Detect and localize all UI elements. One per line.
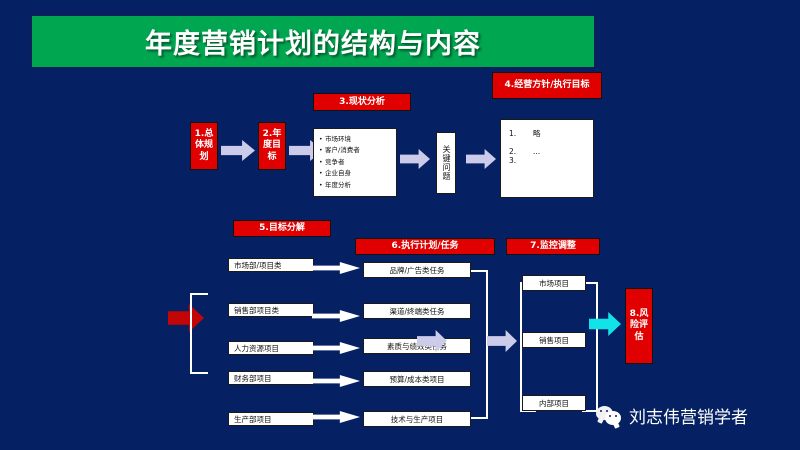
section-header-5: 5.目标分解 (233, 220, 331, 237)
step-2-annual-goal: 2.年度目标 (258, 122, 286, 170)
list-item-number: 1. (509, 129, 533, 138)
title-banner: 年度营销计划的结构与内容 (31, 15, 595, 68)
bracket-line (190, 293, 192, 374)
list-item: 客户/消费者 (319, 145, 392, 156)
risk-assessment-box: 8.风险评估 (625, 288, 653, 364)
section-header-7: 7.监控调整 (506, 238, 600, 255)
task-box-channel-terminal: 渠道/终端类任务 (363, 303, 471, 319)
arrow-right-icon (312, 411, 360, 423)
list-item-text: ... (533, 147, 540, 156)
list-item: 企业自身 (319, 168, 392, 179)
arrow-right-icon (466, 149, 496, 169)
key-issue-label: 关键问题 (440, 145, 452, 181)
list-item: 1.略 (509, 129, 593, 138)
list-item: 市场环境 (319, 134, 392, 145)
list-item-number: 2. (509, 147, 533, 156)
project-box-internal: 内部项目 (522, 395, 586, 411)
wechat-icon (596, 406, 622, 426)
arrow-right-icon (312, 310, 360, 322)
arrow-right-icon (312, 375, 360, 387)
bracket-line (190, 293, 208, 295)
list-item: 2.... (509, 147, 593, 156)
arrow-right-icon (589, 312, 621, 336)
arrow-right-icon (221, 140, 255, 161)
step-1-overall-plan: 1.总体规划 (190, 122, 218, 170)
list-item: 年度分析 (319, 180, 392, 191)
dept-label-hr: 人力资源项目 (228, 341, 314, 355)
section-header-4: 4.经营方针/执行目标 (492, 72, 602, 99)
dept-label-sales: 销售部项目类 (228, 303, 314, 317)
watermark-text: 刘志伟营销学者 (629, 403, 748, 428)
list-item: 竞争者 (319, 157, 392, 168)
arrow-right-icon (400, 149, 430, 169)
bracket-line (471, 417, 488, 419)
watermark: 刘志伟营销学者 (596, 403, 748, 428)
slide-canvas: 年度营销计划的结构与内容 3.现状分析 4.经营方针/执行目标 1.总体规划 2… (0, 0, 800, 450)
task-box-budget-cost: 预算/成本类项目 (363, 371, 471, 387)
analysis-bullet-box: 市场环境 客户/消费者 竞争者 企业自身 年度分析 (313, 128, 397, 197)
analysis-bullet-list: 市场环境 客户/消费者 竞争者 企业自身 年度分析 (319, 134, 392, 191)
arrow-right-icon (312, 342, 360, 354)
objective-list-box: 1.略 2.... 3. (500, 119, 594, 198)
section-header-3: 3.现状分析 (313, 93, 411, 111)
spacer (509, 138, 593, 147)
list-item-text: 略 (533, 129, 541, 138)
task-box-tech-production: 技术与生产项目 (363, 411, 471, 427)
dept-label-marketing: 市场部/项目类 (228, 258, 314, 272)
bracket-line (190, 372, 208, 374)
arrow-right-icon (312, 262, 360, 274)
project-box-sales: 销售项目 (522, 332, 586, 348)
list-item: 3. (509, 156, 593, 165)
project-box-market: 市场项目 (522, 275, 586, 291)
arrow-right-icon (168, 304, 204, 332)
bracket-line (596, 282, 598, 412)
arrow-right-icon (487, 330, 517, 352)
dept-label-finance: 财务部项目 (228, 371, 314, 385)
page-title: 年度营销计划的结构与内容 (145, 22, 481, 61)
key-issue-box: 关键问题 (436, 132, 456, 194)
section-header-6: 6.执行计划/任务 (355, 238, 495, 255)
dept-label-production: 生产部项目 (228, 412, 314, 426)
task-box-brand-ad: 品牌/广告类任务 (363, 262, 471, 278)
list-item-number: 3. (509, 156, 533, 165)
